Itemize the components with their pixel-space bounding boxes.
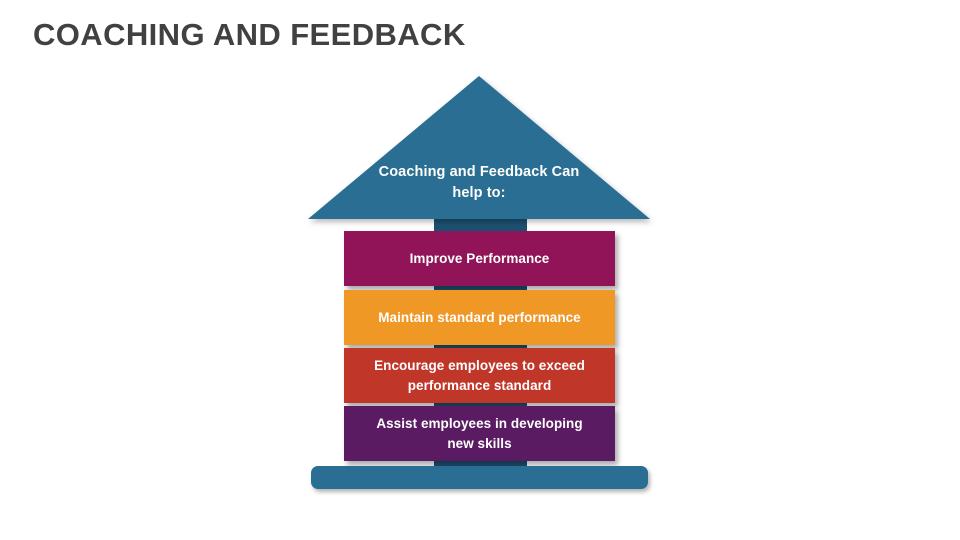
list-item-label: Maintain standard performance [356,308,604,327]
list-item-label-line-2: new skills [356,434,604,453]
list-item[interactable]: Improve Performance [344,231,615,286]
list-item[interactable]: Encourage employees to exceed performanc… [344,348,615,403]
list-item-label-line-1: Assist employees in developing [356,414,604,433]
list-item[interactable]: Assist employees in developing new skill… [344,406,615,461]
arrow-head-triangle-icon [308,76,650,221]
list-item-label-line-1: Encourage employees to exceed [356,356,604,375]
list-item-label: Improve Performance [356,249,604,268]
list-item-label-line-1: Improve Performance [356,249,604,268]
arrow-base-bar [311,466,648,489]
slide-canvas: COACHING AND FEEDBACK Coaching and Feedb… [0,0,960,540]
list-item-label-line-2: performance standard [356,376,604,395]
list-item-label-line-1: Maintain standard performance [356,308,604,327]
list-item-label: Encourage employees to exceed performanc… [356,356,604,394]
list-item[interactable]: Maintain standard performance [344,290,615,345]
list-item-label: Assist employees in developing new skill… [356,414,604,452]
coaching-feedback-arrow-diagram: Coaching and Feedback Can help to: Impro… [0,0,960,540]
